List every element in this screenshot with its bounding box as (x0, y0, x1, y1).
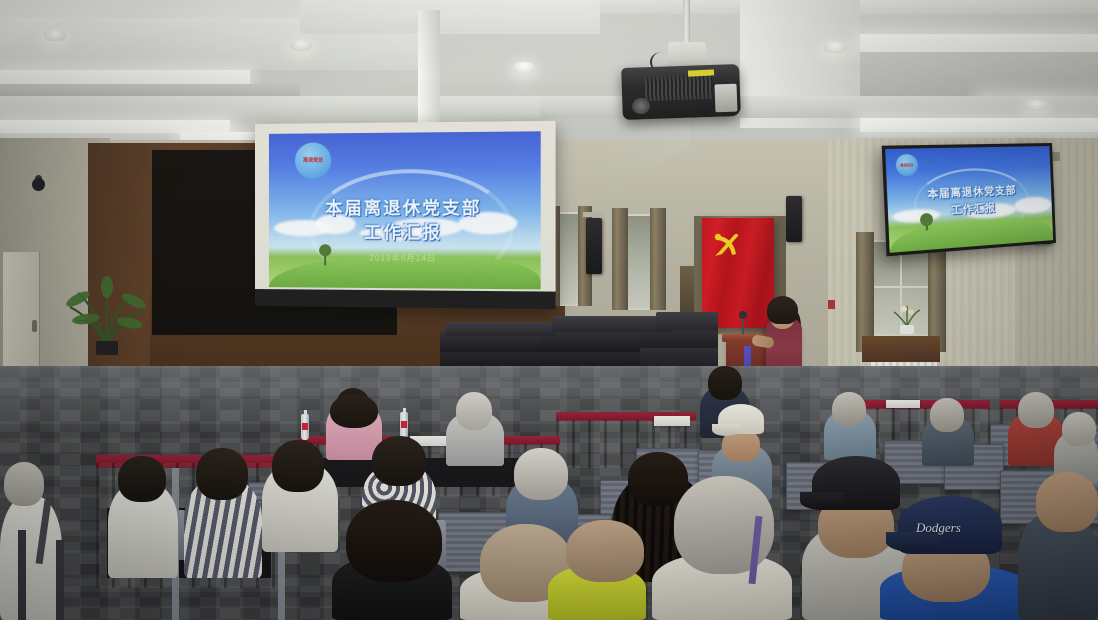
projected-slide: 离退党总 本届离退休党支部 工作汇报 2019年6月14日 (269, 131, 541, 289)
audience-head (708, 366, 742, 400)
ceiling-downlight (290, 40, 312, 51)
window-curtain (856, 232, 874, 352)
audience-head (1036, 472, 1098, 532)
window-curtain (612, 208, 628, 310)
ceiling-downlight (824, 42, 846, 53)
audience-head (832, 392, 866, 426)
cap-brim (800, 492, 844, 510)
mobility-frame (56, 540, 64, 620)
dome-camera-icon (32, 178, 45, 191)
projection-screen: 离退党总 本届离退休党支部 工作汇报 2019年6月14日 (255, 121, 556, 309)
audience-head (566, 520, 644, 582)
projector-bracket (668, 42, 706, 68)
projector-side-panel (715, 84, 738, 113)
presenter-hair (767, 296, 798, 324)
window-curtain (650, 208, 666, 310)
audience-head (196, 448, 248, 500)
slide-title-line2: 工作汇报 (269, 218, 541, 244)
water-bottle (301, 414, 309, 440)
wall-plate (828, 300, 835, 309)
wall-speaker (786, 196, 802, 242)
speaker-bracket (583, 212, 605, 217)
dodgers-cap-text: Dodgers (916, 520, 986, 536)
ceiling-downlight (1025, 100, 1047, 111)
audience-member (0, 496, 62, 620)
ceiling-downlight (44, 30, 66, 41)
wall-speaker (586, 218, 602, 274)
audience-head (118, 456, 166, 502)
audience-head (456, 392, 492, 430)
audience-head (1062, 412, 1096, 446)
slide-logo: 离退党总 (295, 142, 331, 178)
audience-head (930, 398, 964, 432)
cap-brim (712, 424, 740, 436)
papers-on-table (886, 400, 920, 408)
mobility-frame (18, 530, 26, 620)
window-wainscot (862, 336, 940, 362)
tv-displayed-slide: 离退党总 本届离退休党支部 工作汇报 (885, 146, 1053, 253)
projector-vent (645, 75, 714, 101)
slide-date: 2019年6月14日 (269, 252, 541, 265)
projector-mount-pole (683, 0, 690, 46)
potted-palm-left (66, 255, 148, 355)
audience-head (4, 462, 44, 506)
tv-slide-tree-icon (926, 221, 929, 231)
audience-head (1018, 392, 1054, 428)
audience-head (628, 452, 688, 506)
hammer-and-sickle-icon (710, 228, 744, 262)
door-handle-icon[interactable] (32, 320, 37, 332)
ceiling-downlight (513, 62, 535, 73)
audience-hair (330, 394, 378, 428)
slide-logo-text: 离退党总 (303, 158, 323, 163)
tv-slide-logo: 离退党总 (895, 154, 918, 176)
potted-plant-windowsill (892, 300, 922, 334)
audience-head (372, 436, 426, 486)
papers-on-table (654, 416, 690, 426)
tv-slide-logo-text: 离退党总 (900, 163, 913, 167)
screen-bottom-bar (255, 289, 556, 309)
slide-title-line1: 本届离退休党支部 (269, 193, 541, 219)
audience-head (272, 440, 324, 492)
photo-scene: 离退党总 本届离退休党支部 工作汇报 2019年6月14日 离退党总 本届离退休… (0, 0, 1098, 620)
wall-mounted-tv: 离退党总 本届离退休党支部 工作汇报 (882, 143, 1056, 256)
audience-head (514, 448, 568, 500)
audience-head (346, 500, 442, 582)
water-bottle (400, 412, 408, 438)
